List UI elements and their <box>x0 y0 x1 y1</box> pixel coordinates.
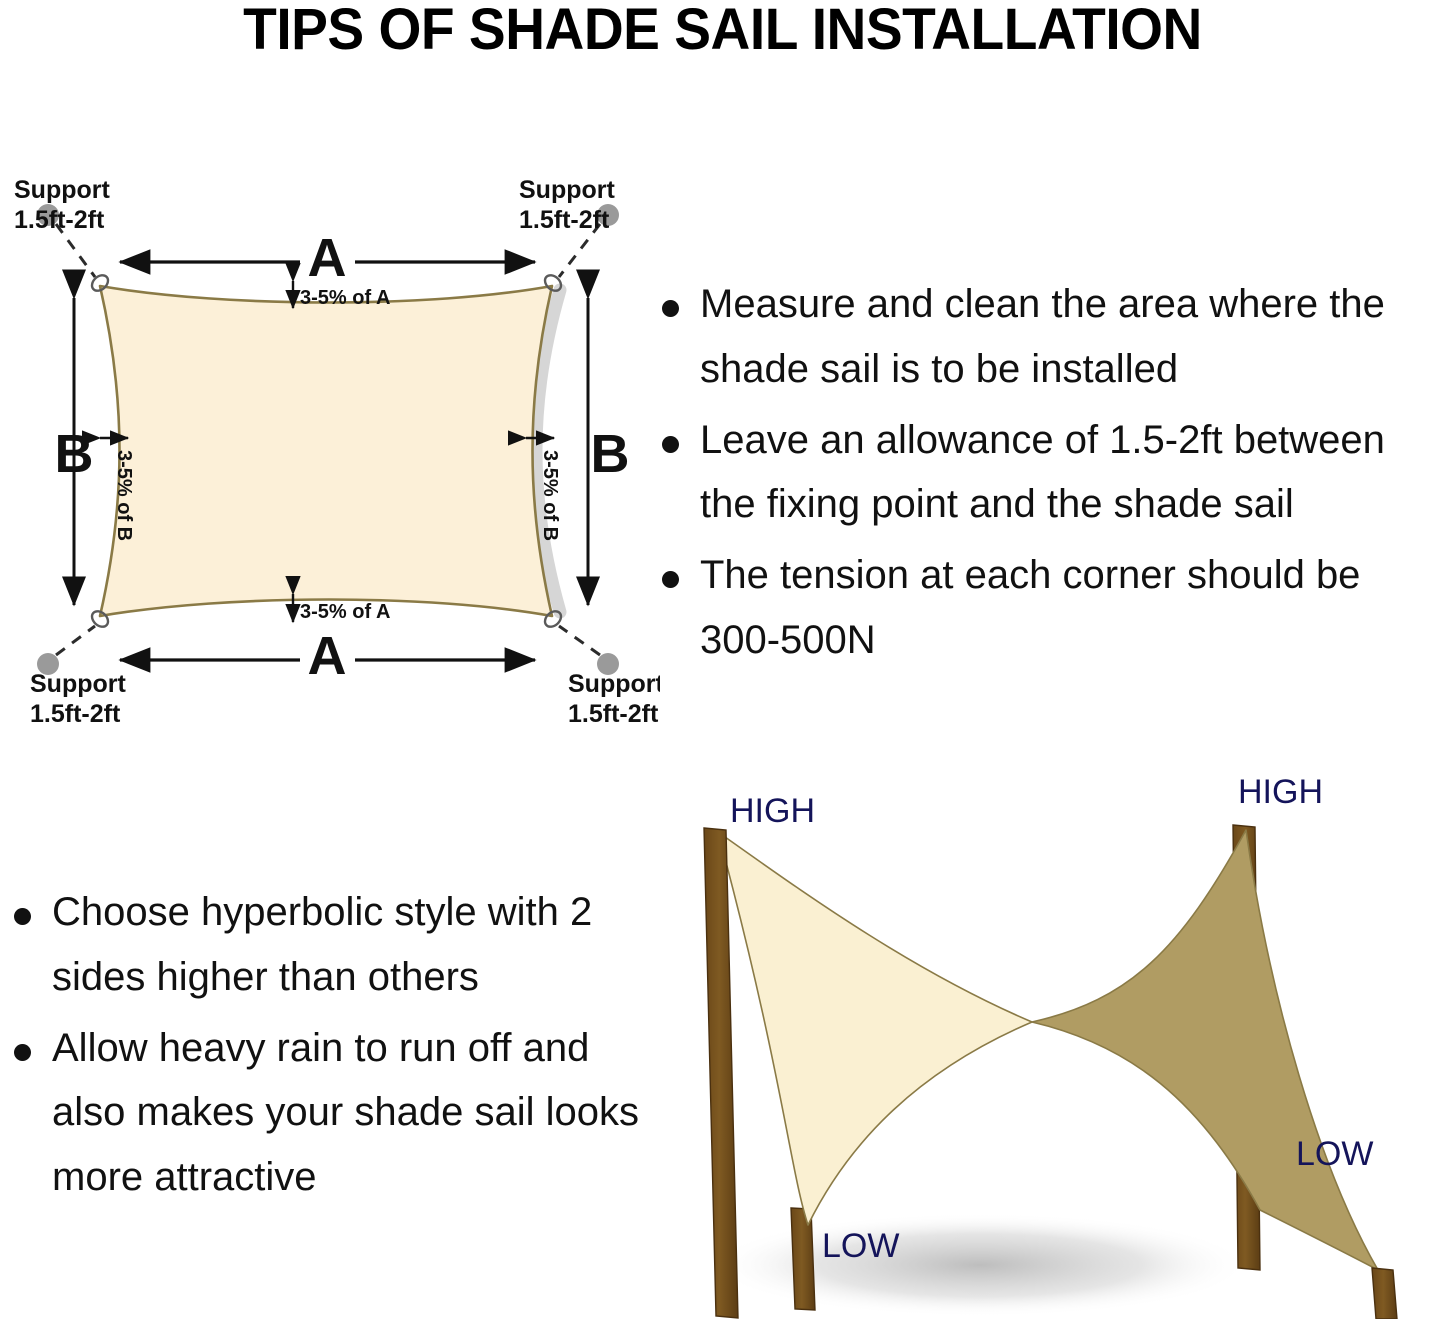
support-label-bottom-right-line1: Support <box>568 670 660 698</box>
dimension-label-b-right: B <box>591 424 630 484</box>
bullet-dot-icon <box>662 571 679 588</box>
page-title: TIPS OF SHADE SAIL INSTALLATION <box>36 0 1409 63</box>
tip-item: Allow heavy rain to run off and also mak… <box>0 1016 640 1210</box>
installation-tips-left-panel: Choose hyperbolic style with 2 sides hig… <box>0 880 640 1220</box>
support-label-bottom-left: Support 1.5ft-2ft <box>30 670 126 728</box>
support-label-top-right-line2: 1.5ft-2ft <box>519 206 610 234</box>
label-low-bottom-left: LOW <box>822 1227 899 1265</box>
support-label-bottom-right-line2: 1.5ft-2ft <box>568 700 659 728</box>
dimension-label-b-left: B <box>55 424 94 484</box>
curve-note-left: 3-5% of B <box>113 450 135 541</box>
dimension-label-a-top: A <box>308 228 347 288</box>
tips-right-list: Measure and clean the area where the sha… <box>648 272 1445 673</box>
bullet-dot-icon <box>662 436 679 453</box>
tip-item: Choose hyperbolic style with 2 sides hig… <box>0 880 640 1010</box>
bullet-dot-icon <box>14 1044 31 1061</box>
tip-text: Leave an allowance of 1.5-2ft between th… <box>700 408 1445 538</box>
tips-left-list: Choose hyperbolic style with 2 sides hig… <box>0 880 640 1210</box>
pole-top-left-high <box>704 828 738 1318</box>
support-label-bottom-left-line1: Support <box>30 670 126 698</box>
support-label-top-left-line2: 1.5ft-2ft <box>14 206 105 234</box>
curve-note-right: 3-5% of B <box>539 450 561 541</box>
tip-text: The tension at each corner should be 300… <box>700 543 1445 673</box>
support-label-bottom-left-line2: 1.5ft-2ft <box>30 700 121 728</box>
dimension-label-a-bottom: A <box>308 626 347 686</box>
installation-tips-right-panel: Measure and clean the area where the sha… <box>648 272 1445 672</box>
curve-note-top: 3-5% of A <box>300 287 390 309</box>
rectangular-sail-diagram: A A B B 3-5% of A 3-5% of A 3-5 <box>0 150 660 730</box>
support-label-top-left: Support 1.5ft-2ft <box>14 176 110 234</box>
bullet-dot-icon <box>662 300 679 317</box>
dash-bottom-left <box>56 626 95 655</box>
shade-sail-body <box>100 286 552 616</box>
ground-shadow <box>710 1213 1250 1317</box>
support-label-top-right-line1: Support <box>519 176 615 204</box>
label-low-bottom-right-text: LOW <box>1296 1135 1373 1174</box>
tip-item: Leave an allowance of 1.5-2ft between th… <box>648 408 1445 538</box>
label-high-top-right: HIGH <box>1238 773 1323 811</box>
tip-text: Choose hyperbolic style with 2 sides hig… <box>52 880 640 1010</box>
curve-note-bottom: 3-5% of A <box>300 601 390 623</box>
pole-bottom-right-low <box>1372 1268 1397 1319</box>
pole-bottom-left-low <box>791 1208 815 1310</box>
shade-sail-light-sheet <box>718 832 1032 1225</box>
hyperbolic-sail-diagram: HIGH HIGH LOW LOW LOW <box>660 770 1445 1319</box>
tip-item: The tension at each corner should be 300… <box>648 543 1445 673</box>
dash-bottom-right <box>559 626 600 655</box>
shade-sail-dark-sheet <box>1032 830 1378 1270</box>
label-high-top-left: HIGH <box>730 792 815 830</box>
support-label-top-right: Support 1.5ft-2ft <box>519 176 615 234</box>
bullet-dot-icon <box>14 908 31 925</box>
support-label-top-left-line1: Support <box>14 176 110 204</box>
tip-text: Measure and clean the area where the sha… <box>700 272 1445 402</box>
tip-item: Measure and clean the area where the sha… <box>648 272 1445 402</box>
tip-text: Allow heavy rain to run off and also mak… <box>52 1016 640 1210</box>
support-label-bottom-right: Support 1.5ft-2ft <box>568 670 660 728</box>
